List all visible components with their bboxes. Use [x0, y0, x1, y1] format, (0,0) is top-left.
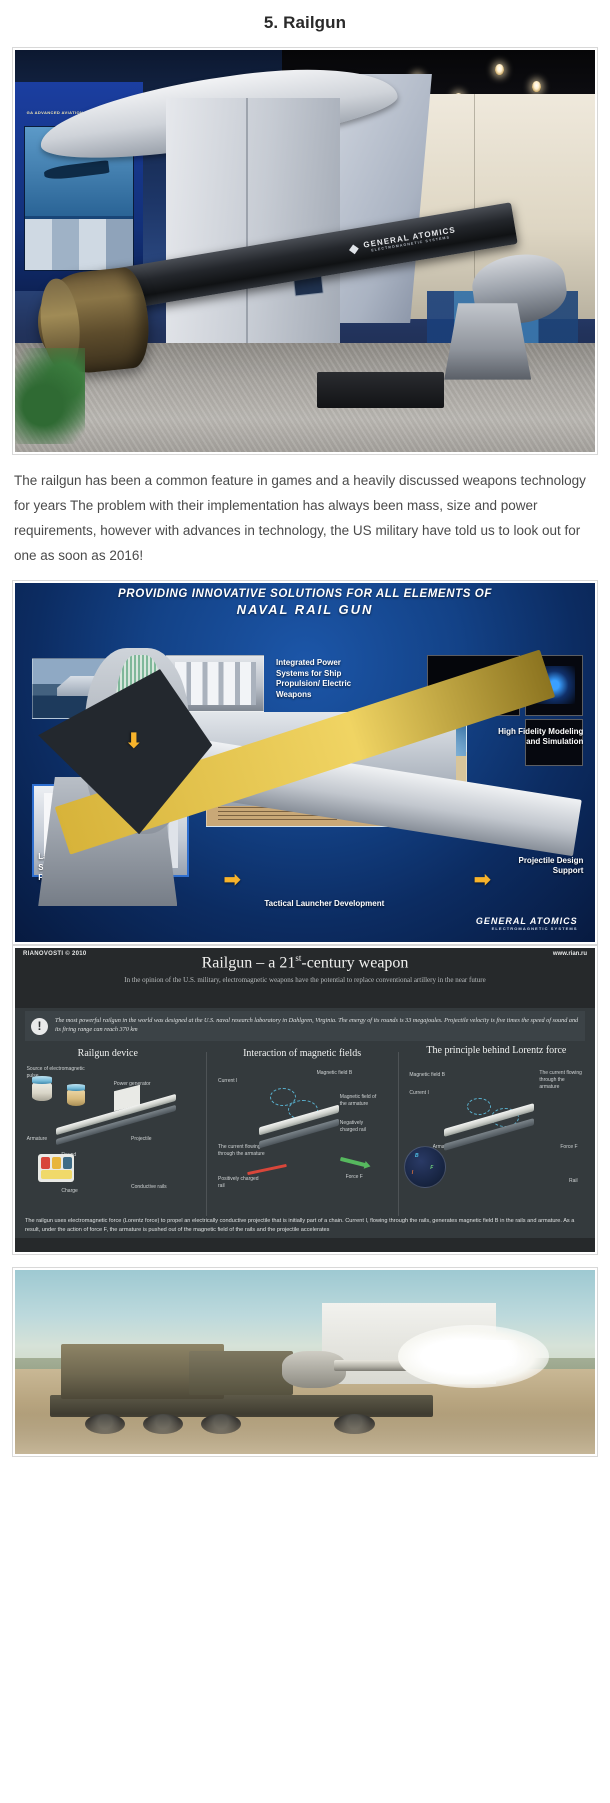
infographic-footer-band	[15, 1238, 595, 1252]
article-page: 5. Railgun GA ADVANCED AVIATION RAD	[0, 0, 610, 1457]
equipment-base	[317, 372, 445, 408]
column-heading-lorentz: The principle behind Lorentz force	[404, 1045, 590, 1056]
page-title: 5. Railgun	[0, 0, 610, 47]
exclamation-icon: !	[31, 1018, 48, 1035]
label-positively-charged-rail: Positively charged rail	[218, 1176, 266, 1190]
railgun-lorentz-infographic: Railgun – a 21st-century weapon In the o…	[12, 945, 598, 1255]
infographic-title: PROVIDING INNOVATIVE SOLUTIONS FOR ALL E…	[15, 587, 595, 617]
label-projectile: Projectile	[131, 1136, 152, 1143]
label-magnetic-field-b-3: Magnetic field B	[409, 1072, 445, 1079]
column-heading-railgun-device: Railgun device	[27, 1048, 189, 1059]
label-tactical-launcher: Tactical Launcher Development	[264, 899, 384, 910]
bif-axes-diagram: B I F	[404, 1146, 446, 1188]
label-negatively-charged-rail: Negatively charged rail	[340, 1120, 380, 1134]
fact-note-box: ! The most powerful railgun in the world…	[25, 1011, 585, 1041]
infographic-subtitle: In the opinion of the U.S. military, ele…	[15, 975, 595, 986]
gun-mount	[444, 303, 531, 379]
column-heading-interaction: Interaction of magnetic fields	[212, 1048, 392, 1059]
arrow-down-icon: ➡	[124, 732, 144, 749]
barrel-branding: GENERAL ATOMICS ELECTROMAGNETIC SYSTEMS	[363, 226, 457, 254]
label-rail-3: Rail	[569, 1178, 578, 1185]
label-charge: Charge	[61, 1188, 77, 1195]
exhibit-booth	[166, 98, 340, 347]
general-atomics-brand: GENERAL ATOMICS ELECTROMAGNETIC SYSTEMS	[476, 916, 578, 931]
infographic-caption: The railgun uses electromagnetic force (…	[25, 1217, 585, 1234]
dust-cloud	[15, 1414, 595, 1454]
label-force-f: Force F	[346, 1174, 363, 1181]
railgun-expo-photo: GA ADVANCED AVIATION RAD GENERAL ATOMICS…	[12, 47, 598, 455]
arrow-right-icon-2: ➡	[474, 870, 491, 890]
label-current-i: Current I	[218, 1078, 237, 1085]
footer-url: www.rian.ru	[553, 951, 587, 957]
label-force-f-3: Force F	[560, 1144, 577, 1151]
arrow-right-icon-1: ➡	[224, 870, 241, 890]
label-current-i-3: Current I	[409, 1090, 428, 1097]
naval-rail-gun-infographic: PROVIDING INNOVATIVE SOLUTIONS FOR ALL E…	[12, 580, 598, 945]
fact-note-text: The most powerful railgun in the world w…	[55, 1017, 579, 1034]
label-integrated-power: Integrated Power Systems for Ship Propul…	[276, 658, 351, 700]
infographic-title: Railgun – a 21st-century weapon	[15, 953, 595, 972]
label-conductive-rails: Conductive rails	[131, 1184, 167, 1191]
label-magnetic-field-armature: Magnetic field of the armature	[340, 1094, 384, 1108]
label-magnetic-field-b: Magnetic field B	[317, 1070, 353, 1077]
muzzle-flash-core	[456, 1340, 526, 1366]
general-atomics-logo-icon	[349, 244, 359, 254]
potted-plant	[15, 348, 85, 444]
label-armature: Armature	[27, 1136, 48, 1143]
article-paragraph: The railgun has been a common feature in…	[14, 468, 596, 568]
gun-mid-section	[189, 1351, 293, 1395]
footer-credit: RIANOVOSTI © 2010	[23, 951, 87, 957]
label-projectile-design: Projectile Design Support	[444, 856, 583, 877]
label-current-through-armature-3: The current flowing through the armature	[539, 1070, 583, 1091]
railgun-field-test-photo	[12, 1267, 598, 1457]
